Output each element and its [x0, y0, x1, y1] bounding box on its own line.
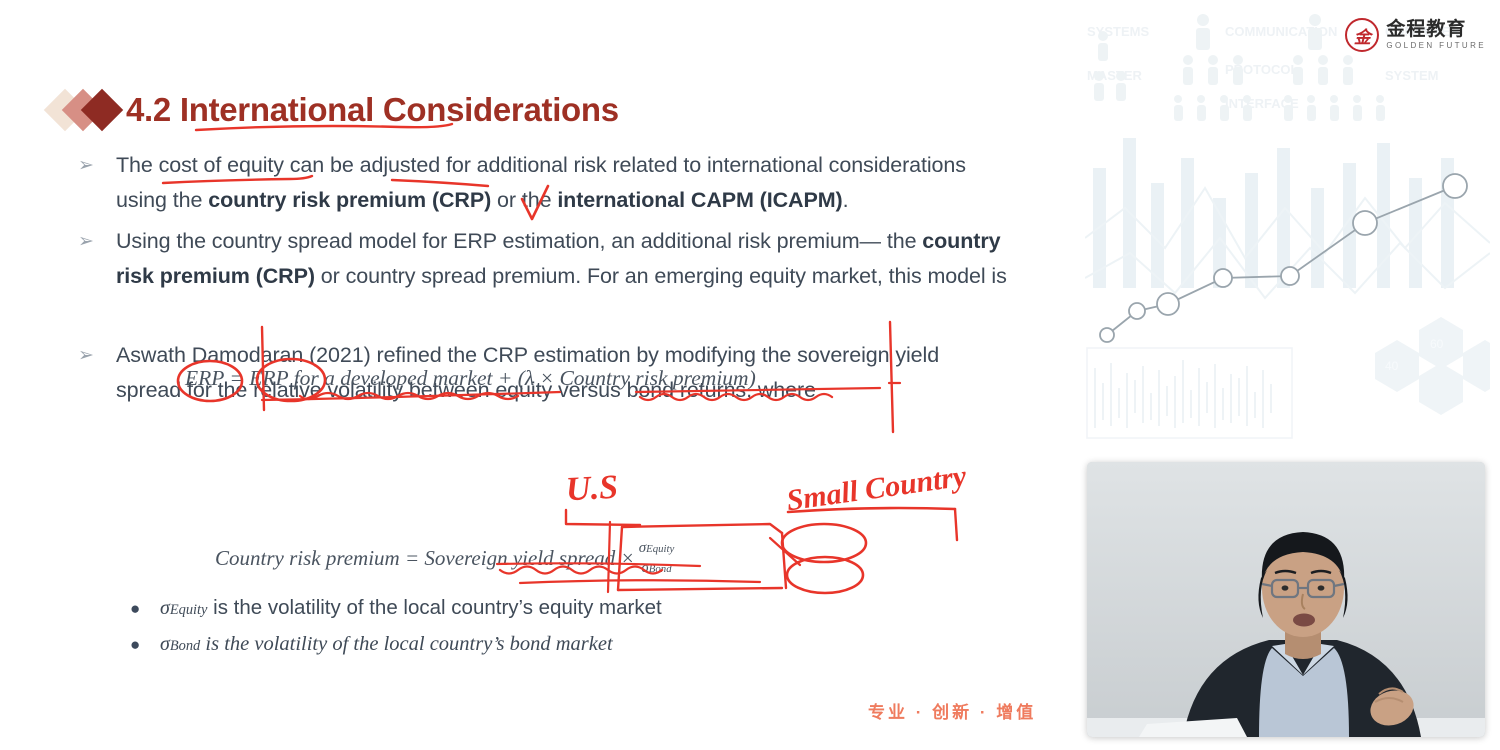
- watermark-label: SYSTEMS: [1087, 24, 1149, 39]
- slide-title-row: 4.2 International Considerations: [48, 82, 619, 138]
- brand-logo: 金 金程教育 GOLDEN FUTURE: [1345, 18, 1486, 52]
- round-bullet-icon: ●: [130, 636, 160, 653]
- logo-emblem-icon: 金: [1345, 18, 1379, 52]
- ink-underline-sovereign-3: [520, 580, 760, 583]
- ink-ellipse-sigma-equity: [782, 524, 866, 562]
- diamond-ornament-icon: [48, 87, 126, 133]
- instructor-video-feed[interactable]: [1087, 462, 1485, 737]
- bullet-item-2: ➢ Using the country spread model for ERP…: [78, 224, 1008, 294]
- ink-diagonal-stroke: [770, 538, 800, 565]
- hex-label: 60: [1430, 337, 1444, 351]
- sigma-equity-symbol: σEquity: [160, 597, 207, 619]
- logo-text-group: 金程教育 GOLDEN FUTURE: [1386, 20, 1486, 51]
- formula-crp-fraction: σEquityσBond: [639, 538, 675, 579]
- fraction-denominator: σBond: [639, 558, 675, 578]
- sub-bullet-bond-text: σBond is the volatility of the local cou…: [160, 632, 613, 657]
- annotation-small-country: Small Country: [785, 460, 969, 519]
- right-panel: SYSTEMS MASTER COMMUNICATION PROTOCOL IN…: [1075, 0, 1500, 750]
- formula-country-risk-premium: Country risk premium = Sovereign yield s…: [215, 540, 674, 581]
- video-eye-right: [1318, 585, 1325, 590]
- ink-bracket-us: [566, 510, 640, 525]
- formula-erp: ERP = ERP for a developed market + (λ × …: [185, 366, 756, 391]
- footer-slogan: 专业 · 创新 · 增值: [868, 698, 1036, 723]
- arrow-bullet-icon: ➢: [78, 338, 116, 373]
- video-frame: [1087, 462, 1485, 737]
- bullet-1-text: The cost of equity can be adjusted for a…: [116, 148, 1008, 218]
- arrow-bullet-icon: ➢: [78, 148, 116, 183]
- decorative-infographic: SYSTEMS MASTER COMMUNICATION PROTOCOL IN…: [1085, 8, 1490, 448]
- ink-tick-small-country: [955, 509, 957, 540]
- video-mouth: [1293, 614, 1315, 627]
- ink-ellipse-sigma-bond: [787, 557, 863, 593]
- video-eye-left: [1282, 585, 1289, 590]
- hex-label: 40: [1385, 359, 1399, 373]
- formula-crp-lhs: Country risk premium = Sovereign yield s…: [215, 546, 635, 570]
- slide-canvas: 4.2 International Considerations ➢ The c…: [0, 0, 1075, 750]
- background-bars: [1093, 138, 1454, 288]
- logo-name-cn: 金程教育: [1386, 20, 1486, 40]
- bullet-2-text: Using the country spread model for ERP e…: [116, 224, 1008, 294]
- annotation-us: U.S: [565, 469, 619, 510]
- candlestick-decoration: [1087, 348, 1292, 438]
- sigma-bond-symbol: σBond: [160, 633, 200, 655]
- sub-bullet-bond: ● σBond is the volatility of the local c…: [130, 632, 662, 657]
- page-title: 4.2 International Considerations: [126, 93, 619, 128]
- round-bullet-icon: ●: [130, 600, 160, 617]
- ink-box-right: [782, 533, 786, 588]
- sub-bullet-equity: ● σEquity is the volatility of the local…: [130, 596, 662, 620]
- ink-box-top: [622, 524, 782, 533]
- sub-bullet-equity-text: σEquity is the volatility of the local c…: [160, 596, 662, 620]
- fraction-numerator: σEquity: [639, 538, 675, 558]
- bullet-item-1: ➢ The cost of equity can be adjusted for…: [78, 148, 1008, 218]
- logo-name-en: GOLDEN FUTURE: [1386, 41, 1486, 50]
- sub-bullet-list: ● σEquity is the volatility of the local…: [130, 596, 662, 669]
- watermark-label: SYSTEM: [1385, 68, 1438, 83]
- ink-box-bottom: [618, 588, 782, 590]
- arrow-bullet-icon: ➢: [78, 224, 116, 259]
